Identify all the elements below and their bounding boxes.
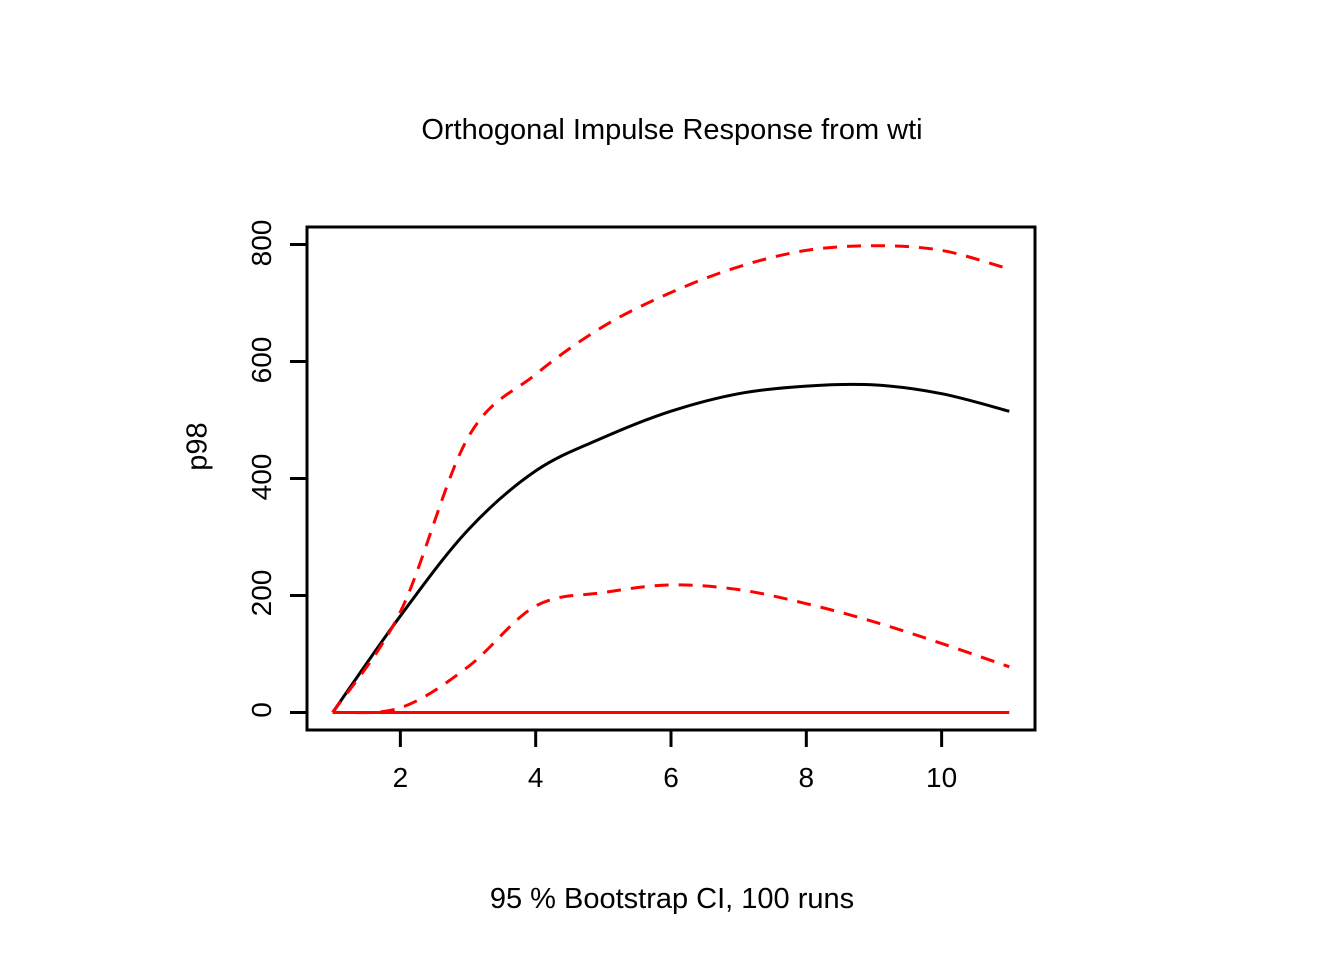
chart-caption: 95 % Bootstrap CI, 100 runs: [0, 883, 1344, 916]
plot-canvas: [0, 0, 1344, 960]
x-tick-label: 10: [912, 762, 972, 794]
series-line-1: [333, 246, 1010, 713]
y-tick-label: 800: [246, 208, 278, 278]
y-tick-label: 600: [246, 325, 278, 395]
x-tick-label: 4: [506, 762, 566, 794]
x-axis-ticks: [400, 730, 941, 747]
x-tick-label: 2: [370, 762, 430, 794]
series-line-2: [333, 585, 1010, 713]
x-tick-label: 6: [641, 762, 701, 794]
y-tick-label: 0: [246, 675, 278, 745]
impulse-response-figure: Orthogonal Impulse Response from wti p98…: [0, 0, 1344, 960]
y-tick-label: 400: [246, 442, 278, 512]
series-line-0: [333, 384, 1010, 712]
plot-frame: [307, 227, 1035, 730]
series-layer: [333, 246, 1010, 713]
y-axis-ticks: [290, 245, 307, 713]
y-tick-label: 200: [246, 558, 278, 628]
x-tick-label: 8: [776, 762, 836, 794]
